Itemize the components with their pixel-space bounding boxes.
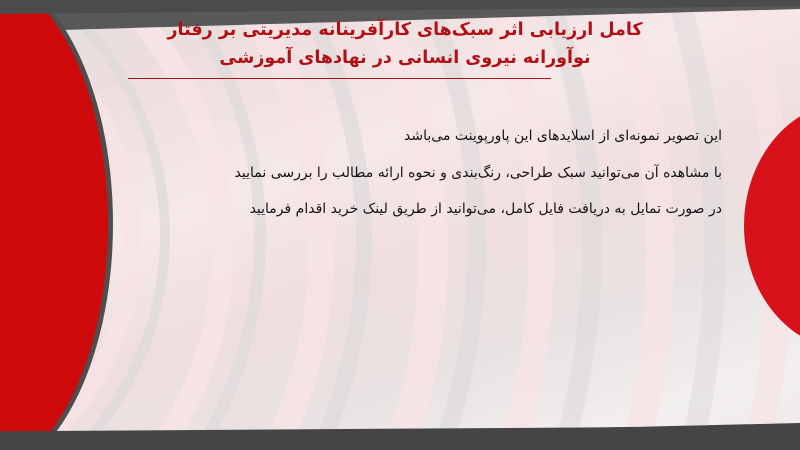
title-underline-rule	[128, 78, 551, 79]
title-line-1: کامل ارزیابی اثر سبک‌های کارآفرینانه مدی…	[60, 16, 750, 44]
body-line-2: با مشاهده آن می‌توانید سبک طراحی، رنگ‌بن…	[62, 155, 722, 192]
title-line-2: نوآورانه نیروی انسانی در نهادهای آموزشی	[60, 44, 750, 72]
body-line-3: در صورت تمایل به دریافت فایل کامل، می‌تو…	[62, 191, 722, 228]
body-line-1: این تصویر نمونه‌ای از اسلایدهای این پاور…	[62, 118, 722, 155]
slide-body-text: این تصویر نمونه‌ای از اسلایدهای این پاور…	[62, 118, 722, 228]
slide-title: کامل ارزیابی اثر سبک‌های کارآفرینانه مدی…	[60, 16, 750, 73]
slide-canvas: کامل ارزیابی اثر سبک‌های کارآفرینانه مدی…	[0, 0, 800, 450]
